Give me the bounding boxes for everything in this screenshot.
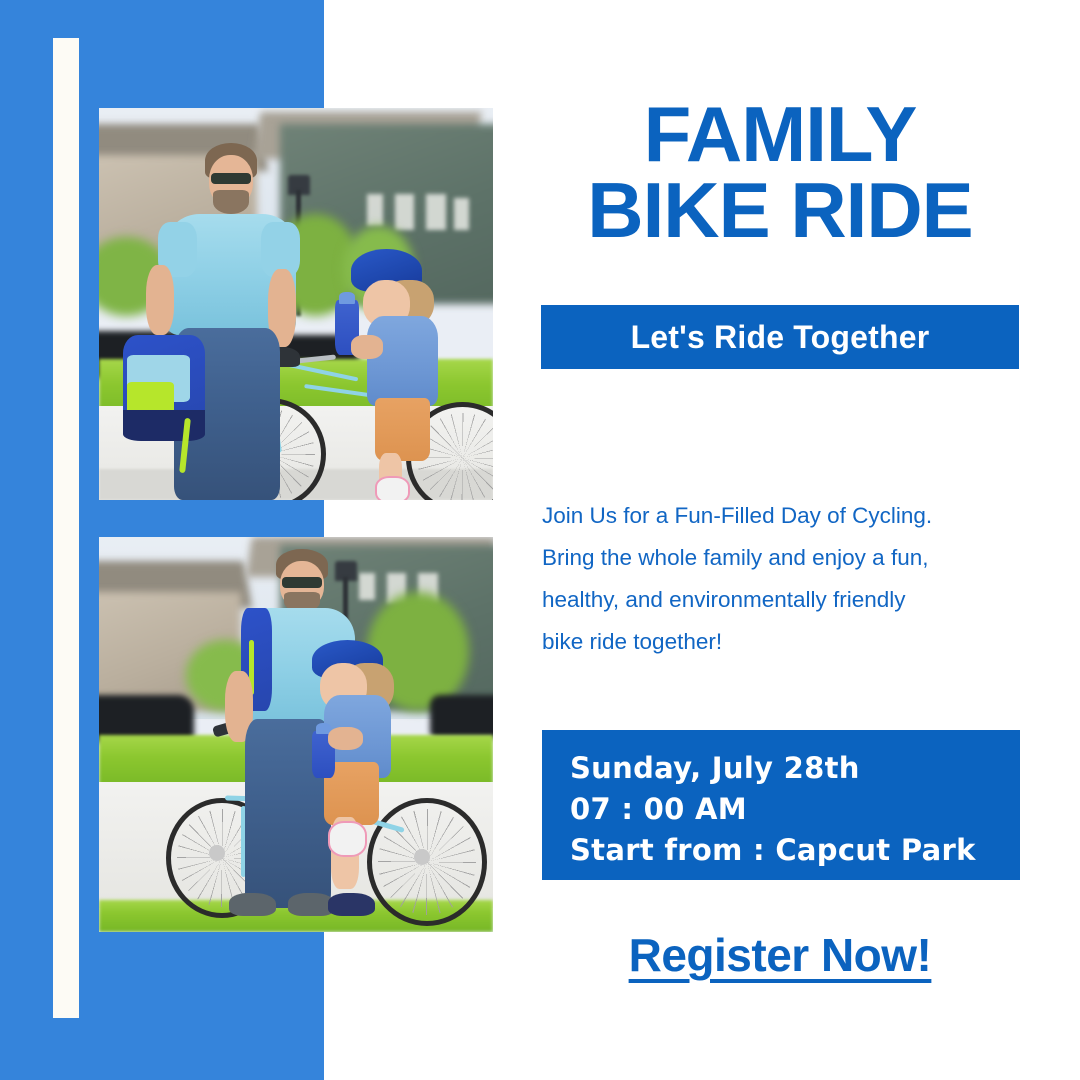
father-hugging-child-photo <box>99 537 493 932</box>
body-line-4: bike ride together! <box>542 621 1032 663</box>
man-shoe-left <box>229 893 276 917</box>
window <box>359 573 375 601</box>
father-and-child-with-bike-photo <box>99 108 493 500</box>
body-copy: Join Us for a Fun-Filled Day of Cycling.… <box>542 495 1032 663</box>
subtitle-text: Let's Ride Together <box>631 319 930 356</box>
window <box>395 194 415 229</box>
man-arm-left <box>146 265 174 336</box>
body-line-3: healthy, and environmentally friendly <box>542 579 1032 621</box>
knee-pad <box>328 821 367 857</box>
photo-2-scene <box>99 537 493 932</box>
sunglasses <box>282 577 321 589</box>
child-arm <box>328 727 363 751</box>
event-details-box: Sunday, July 28th 07 : 00 AM Start from … <box>542 730 1020 880</box>
event-location: Start from : Capcut Park <box>570 830 1020 871</box>
wheel-hub <box>414 849 430 865</box>
bottle-cap <box>339 292 355 304</box>
child-shoe <box>328 893 375 917</box>
subtitle-banner: Let's Ride Together <box>541 305 1019 369</box>
window <box>454 198 470 229</box>
register-cta[interactable]: Register Now! <box>541 928 1019 982</box>
event-time: 07 : 00 AM <box>570 789 1020 830</box>
event-date: Sunday, July 28th <box>570 748 1020 789</box>
window <box>426 194 446 229</box>
man-beard <box>213 190 248 214</box>
register-now-link[interactable]: Register Now! <box>629 928 932 982</box>
poster-title: FAMILY BIKE RIDE <box>541 96 1019 249</box>
sunglasses <box>211 173 250 185</box>
wheel-hub <box>209 845 225 861</box>
knee-pad <box>375 476 411 500</box>
photo-1-scene <box>99 108 493 500</box>
body-line-1: Join Us for a Fun-Filled Day of Cycling. <box>542 495 1032 537</box>
child-arm <box>351 335 383 359</box>
title-line-2: BIKE RIDE <box>541 172 1019 248</box>
window <box>367 194 383 225</box>
title-line-1: FAMILY <box>541 96 1019 172</box>
parked-car <box>430 695 493 738</box>
body-line-2: Bring the whole family and enjoy a fun, <box>542 537 1032 579</box>
child-shorts <box>375 398 430 461</box>
child-shirt <box>367 316 438 406</box>
cream-accent-stripe <box>53 38 79 1018</box>
backpack-base <box>123 410 206 441</box>
